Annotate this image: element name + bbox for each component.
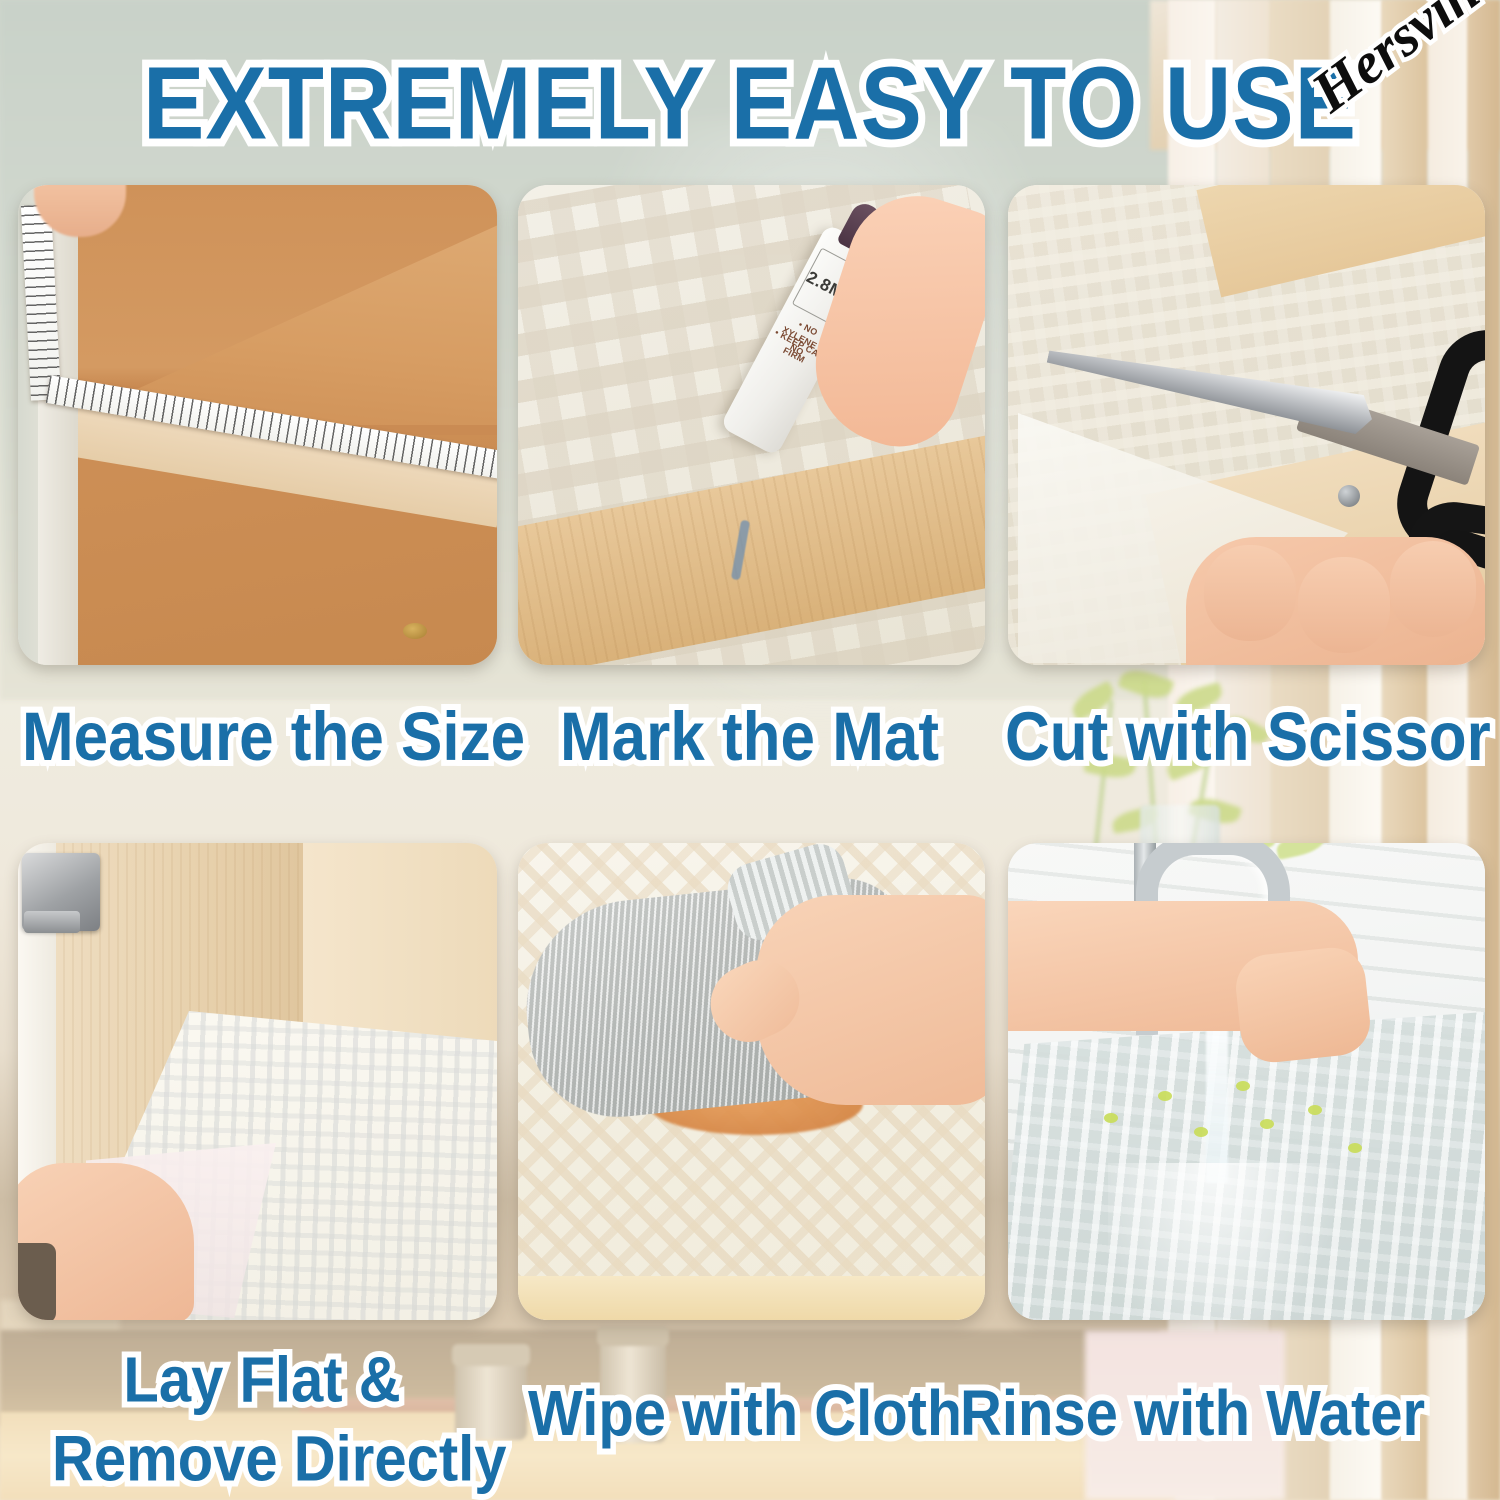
food-debris-4 bbox=[1236, 1081, 1250, 1091]
step-image-lay-flat bbox=[18, 843, 497, 1320]
hand bbox=[1233, 945, 1374, 1066]
food-debris-5 bbox=[1260, 1119, 1274, 1129]
step-image-measure bbox=[18, 185, 497, 665]
screw-icon bbox=[403, 623, 427, 639]
sleeve bbox=[18, 1243, 56, 1320]
caption-rinse: Rinse with Water bbox=[960, 1377, 1425, 1451]
step-image-mark: 2.8MM • NO XYLENE • NO • KEEP CAP FIRM bbox=[518, 185, 985, 665]
finger-1 bbox=[1204, 545, 1296, 641]
infographic-canvas: EXTREMELY EASY TO USE Hersvin bbox=[0, 0, 1500, 1500]
food-debris-7 bbox=[1348, 1143, 1362, 1153]
water-splash bbox=[1108, 1163, 1338, 1320]
food-debris-3 bbox=[1194, 1127, 1208, 1137]
caption-lay-flat-line-2: Remove Directly bbox=[52, 1420, 472, 1499]
food-debris-1 bbox=[1104, 1113, 1118, 1123]
step-image-cut bbox=[1008, 185, 1485, 665]
scissor-pivot bbox=[1338, 485, 1360, 507]
step-image-rinse bbox=[1008, 843, 1485, 1320]
caption-lay-flat-line-1: Lay Flat & bbox=[52, 1341, 472, 1420]
caption-wipe: Wipe with Cloth bbox=[528, 1377, 962, 1451]
cabinet-hinge bbox=[22, 853, 100, 931]
shelf-edge bbox=[518, 1276, 985, 1320]
caption-lay-flat: Lay Flat & Remove Directly bbox=[52, 1341, 472, 1499]
food-debris-2 bbox=[1158, 1091, 1172, 1101]
caption-measure: Measure the Size bbox=[22, 698, 525, 776]
finger-3 bbox=[1390, 541, 1476, 637]
step-image-wipe bbox=[518, 843, 985, 1320]
food-debris-6 bbox=[1308, 1105, 1322, 1115]
finger-2 bbox=[1298, 557, 1390, 653]
page-title: EXTREMELY EASY TO USE bbox=[0, 46, 1500, 164]
caption-cut: Cut with Scissor bbox=[1005, 698, 1491, 776]
caption-mark: Mark the Mat bbox=[560, 698, 939, 776]
